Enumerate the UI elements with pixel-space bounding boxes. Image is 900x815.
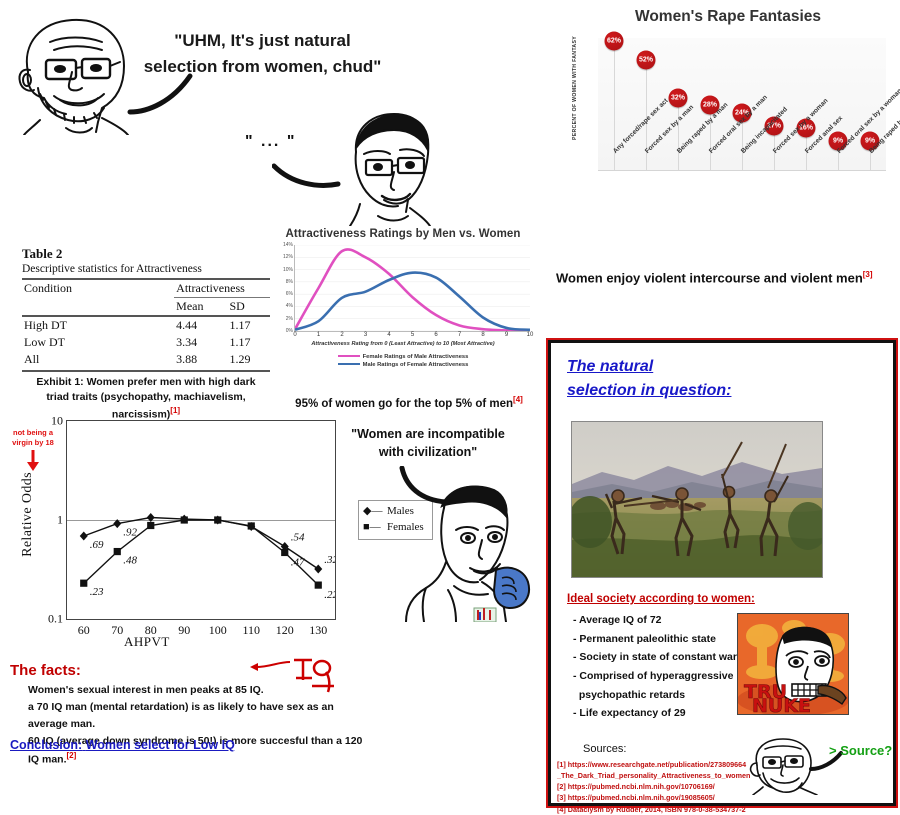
rape-fantasies-value-bubble: 32% xyxy=(669,88,688,107)
iq-x-tick: 120 xyxy=(276,623,294,638)
cell-condition: High DT xyxy=(22,316,174,334)
truth-nuke-text-line2: NUKE xyxy=(752,695,811,714)
iq-data-point xyxy=(248,522,255,529)
attractiveness-plot-area: 0%2%4%6%8%10%12%14%012345678910 xyxy=(294,245,530,332)
speech-pointer-top xyxy=(126,72,198,120)
iq-point-label: .23 xyxy=(90,586,104,598)
fact-line-1: Women's sexual interest in men peaks at … xyxy=(28,682,368,699)
iq-plot-area: .69.92.54.32.23.48.47.22 0.1110607080901… xyxy=(66,420,336,620)
iq-x-tick: 100 xyxy=(209,623,227,638)
attractiveness-y-tick: 8% xyxy=(286,279,293,285)
legend-marker-diamond-icon: ◆— xyxy=(363,504,387,520)
cell-sd: 1.29 xyxy=(227,351,270,368)
attractiveness-x-tick: 7 xyxy=(458,332,461,338)
attractiveness-x-tick: 9 xyxy=(505,332,508,338)
cell-condition: Low DT xyxy=(22,334,174,351)
legend-swatch-male xyxy=(338,363,360,365)
soyjak-speech-line1: "UHM, It's just natural xyxy=(140,28,385,54)
truth-nuke-image: TRU NUKE xyxy=(737,613,849,715)
attractiveness-chart: Attractiveness Ratings by Men vs. Women … xyxy=(272,228,534,370)
iq-relative-odds-chart: Relative Odds .69.92.54.32.23.48.47.22 0… xyxy=(14,412,344,652)
chud-speech-text: " ... " xyxy=(245,133,296,151)
rape-fantasies-title: Women's Rape Fantasies xyxy=(556,8,900,26)
rape-fantasies-value-bubble: 52% xyxy=(637,50,656,69)
legend-marker-square-icon: ■— xyxy=(363,520,387,536)
iq-data-point xyxy=(214,516,221,523)
iq-x-tick: 130 xyxy=(309,623,327,638)
iq-y-tick: 1 xyxy=(57,513,63,528)
header-condition: Condition xyxy=(22,279,174,298)
attractiveness-x-tick: 6 xyxy=(434,332,437,338)
attractiveness-x-tick: 3 xyxy=(364,332,367,338)
iq-x-axis-label: AHPVT xyxy=(124,634,170,650)
iq-x-tick: 70 xyxy=(111,623,123,638)
civilization-speech-text: "Women are incompatible with civilizatio… xyxy=(338,425,518,461)
civilization-speech-line1: "Women are incompatible xyxy=(338,425,518,443)
rape-fantasies-chart: Women's Rape Fantasies PERCENT OF WOMEN … xyxy=(556,2,900,234)
iq-point-label: .32 xyxy=(324,554,335,566)
cell-mean: 3.34 xyxy=(174,334,227,351)
iq-y-tick: 0.1 xyxy=(48,612,63,627)
smug-soyjak-figure xyxy=(396,482,546,622)
conclusion-label: Conclusion: xyxy=(10,738,82,752)
conclusion-text: Women select for Low IQ xyxy=(86,738,235,752)
attractiveness-x-tick: 1 xyxy=(317,332,320,338)
table2-title: Table 2 xyxy=(22,246,270,262)
iq-x-tick: 110 xyxy=(242,623,260,638)
table-subheader-row: Mean SD xyxy=(22,298,270,317)
table-row: All 3.88 1.29 xyxy=(22,351,270,368)
attractiveness-y-tick: 14% xyxy=(283,242,293,248)
attractiveness-y-tick: 6% xyxy=(286,291,293,297)
attractiveness-x-tick: 0 xyxy=(293,332,296,338)
cell-mean: 4.44 xyxy=(174,316,227,334)
rape-fantasies-y-axis-label: PERCENT OF WOMEN WITH FANTASY xyxy=(572,20,578,140)
iq-y-axis-label: Relative Odds xyxy=(20,472,36,557)
rape-fantasies-value-bubble: 62% xyxy=(605,32,624,51)
iq-data-point xyxy=(80,531,88,540)
attractiveness-x-tick: 10 xyxy=(527,332,534,338)
iq-point-label: .54 xyxy=(291,531,305,543)
panel-heading: The natural selection in question: xyxy=(567,355,827,403)
iq-x-tick: 60 xyxy=(78,623,90,638)
iq-point-label: .48 xyxy=(123,555,137,567)
table-row: High DT 4.44 1.17 xyxy=(22,316,270,334)
exhibit-line2: triad traits (psychopathy, machiavelism, xyxy=(22,390,270,405)
attractiveness-x-tick: 8 xyxy=(481,332,484,338)
paleolithic-warfare-image xyxy=(571,421,823,578)
reference-marker-3: [3] xyxy=(863,270,873,279)
descriptive-statistics-table: Condition Attractiveness Mean SD High DT… xyxy=(22,278,270,368)
table-row: Low DT 3.34 1.17 xyxy=(22,334,270,351)
reference-marker-4: [4] xyxy=(513,395,523,404)
attractiveness-caption: 95% of women go for the top 5% of men[4] xyxy=(280,395,538,410)
header-attractiveness: Attractiveness xyxy=(174,279,270,298)
iq-point-label: .47 xyxy=(291,556,305,568)
iq-data-point xyxy=(80,580,87,587)
iq-data-point xyxy=(147,513,155,522)
facts-body: Women's sexual interest in men peaks at … xyxy=(28,682,368,769)
iq-x-tick: 90 xyxy=(178,623,190,638)
iq-data-point xyxy=(147,522,154,529)
cell-sd: 1.17 xyxy=(227,334,270,351)
chud-angry-figure xyxy=(330,108,440,226)
cell-sd: 1.17 xyxy=(227,316,270,334)
source-question-text: > Source? xyxy=(829,743,892,758)
iq-data-point xyxy=(181,516,188,523)
attractiveness-series-male xyxy=(295,273,530,330)
reference-marker-2: [2] xyxy=(67,751,77,760)
legend-entry-female: Female Ratings of Male Attractiveness xyxy=(272,354,534,360)
attractiveness-x-axis-label: Attractiveness Rating from 0 (Least Attr… xyxy=(272,341,534,347)
panel-heading-line2: selection in question: xyxy=(567,382,731,399)
table2-block: Table 2 Descriptive statistics for Attra… xyxy=(22,246,270,423)
attractiveness-y-tick: 12% xyxy=(283,254,293,260)
cell-condition: All xyxy=(22,351,174,368)
attractiveness-x-tick: 4 xyxy=(387,332,390,338)
legend-swatch-female xyxy=(338,355,360,357)
attractiveness-series-female xyxy=(295,249,530,330)
attractiveness-x-tick: 2 xyxy=(340,332,343,338)
iq-point-label: .22 xyxy=(324,589,335,601)
iq-y-tick: 10 xyxy=(51,414,63,429)
conclusion-line: Conclusion: Women select for Low IQ xyxy=(10,738,235,752)
attractiveness-y-tick: 2% xyxy=(286,316,293,322)
iq-data-point xyxy=(315,582,322,589)
iq-data-point xyxy=(281,549,288,556)
ideal-society-heading: Ideal society according to women: xyxy=(567,593,755,605)
attractiveness-legend: Female Ratings of Male Attractiveness Ma… xyxy=(272,354,534,368)
attractiveness-y-tick: 0% xyxy=(286,328,293,334)
iq-point-label: .69 xyxy=(90,539,104,551)
cell-mean: 3.88 xyxy=(174,351,227,368)
table2-subtitle: Descriptive statistics for Attractivenes… xyxy=(22,263,270,275)
iq-data-point xyxy=(314,564,322,573)
rape-fantasies-caption: Women enjoy violent intercourse and viol… xyxy=(556,270,896,285)
iq-data-point xyxy=(114,548,121,555)
attractiveness-y-tick: 4% xyxy=(286,303,293,309)
source-item[interactable]: [4] Dataclysm by Rudder, 2014, ISBN 978-… xyxy=(557,804,807,815)
panel-heading-line1: The natural xyxy=(567,358,653,375)
legend-entry-male: Male Ratings of Female Attractiveness xyxy=(272,362,534,368)
header-sd: SD xyxy=(227,298,270,317)
natural-selection-panel: The natural selection in question: xyxy=(548,340,896,806)
sources-heading: Sources: xyxy=(583,743,626,755)
facts-heading: The facts: xyxy=(10,662,81,679)
exhibit-line1: Exhibit 1: Women prefer men with high da… xyxy=(22,375,270,390)
attractiveness-y-tick: 10% xyxy=(283,267,293,273)
civilization-speech-line2: with civilization" xyxy=(338,443,518,461)
attractiveness-x-tick: 5 xyxy=(411,332,414,338)
header-mean: Mean xyxy=(174,298,227,317)
fact-line-2: a 70 IQ man (mental retardation) is as l… xyxy=(28,699,368,733)
table-header-row: Condition Attractiveness xyxy=(22,279,270,298)
attractiveness-chart-title: Attractiveness Ratings by Men vs. Women xyxy=(272,228,534,240)
rape-fantasies-category-labels: Any forced/rape sex actForced sex by a m… xyxy=(598,148,898,218)
iq-data-point xyxy=(113,519,121,528)
